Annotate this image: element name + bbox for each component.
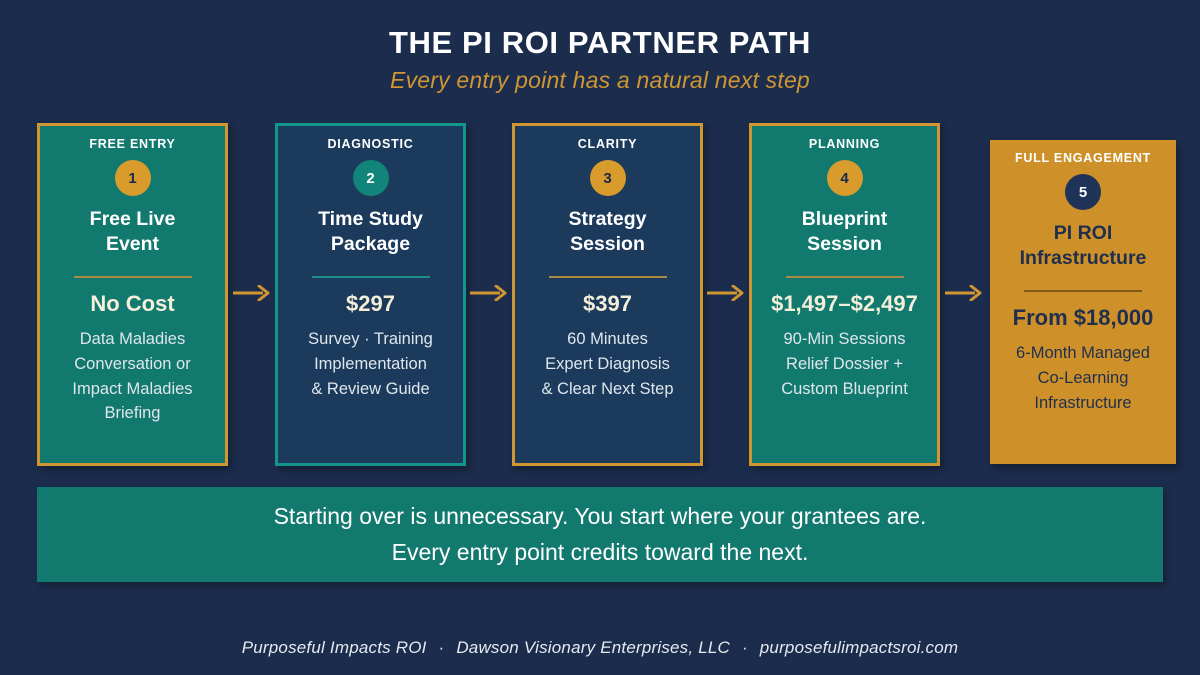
card-label: DIAGNOSTIC <box>328 137 414 151</box>
card-detail-line: 6-Month Managed <box>1016 341 1150 366</box>
card-title-line: Infrastructure <box>1020 246 1147 271</box>
card-title-line: Blueprint <box>802 207 888 232</box>
card-detail-line: Relief Dossier + <box>781 352 908 377</box>
card-detail-line: & Clear Next Step <box>541 377 673 402</box>
card-label: FULL ENGAGEMENT <box>1015 151 1151 165</box>
arrow-3-to-4-icon <box>707 285 747 306</box>
pathway-card-2[interactable]: DIAGNOSTIC2Time StudyPackage$297Survey ·… <box>275 123 466 466</box>
card-title-line: Package <box>318 232 423 257</box>
card-title: PI ROIInfrastructure <box>1020 221 1147 271</box>
card-title-line: Free Live <box>90 207 176 232</box>
pathway-card-5[interactable]: FULL ENGAGEMENT5PI ROIInfrastructureFrom… <box>990 140 1176 464</box>
step-number-badge: 4 <box>827 160 863 196</box>
card-title-line: Strategy <box>568 207 646 232</box>
card-divider <box>549 276 667 278</box>
card-title: Free LiveEvent <box>90 207 176 257</box>
card-title: StrategySession <box>568 207 646 257</box>
card-detail-line: Briefing <box>72 401 192 426</box>
card-divider <box>1024 290 1142 292</box>
card-detail-line: & Review Guide <box>308 377 433 402</box>
page-title: THE PI ROI PARTNER PATH <box>0 26 1200 60</box>
footer: Purposeful Impacts ROI · Dawson Visionar… <box>0 638 1200 658</box>
footer-separator-1: · <box>432 638 452 657</box>
card-price: $397 <box>583 291 632 316</box>
arrow-1-to-2-icon <box>233 285 273 306</box>
card-price: From $18,000 <box>1013 305 1154 330</box>
pathway-card-1[interactable]: FREE ENTRY1Free LiveEventNo CostData Mal… <box>37 123 228 466</box>
card-divider <box>74 276 192 278</box>
footer-company: Dawson Visionary Enterprises, LLC <box>456 638 730 657</box>
card-detail-line: Implementation <box>308 352 433 377</box>
card-detail-line: Expert Diagnosis <box>541 352 673 377</box>
arrow-4-to-5-icon <box>945 285 985 306</box>
step-number-badge: 3 <box>590 160 626 196</box>
card-price: $1,497–$2,497 <box>771 291 918 316</box>
card-title-line: Event <box>90 232 176 257</box>
card-detail: Survey · TrainingImplementation& Review … <box>308 327 433 401</box>
card-divider <box>786 276 904 278</box>
arrow-2-to-3-icon <box>470 285 510 306</box>
card-detail: 6-Month ManagedCo-LearningInfrastructure <box>1016 341 1150 415</box>
pathway-card-3[interactable]: CLARITY3StrategySession$39760 MinutesExp… <box>512 123 703 466</box>
banner-line-2: Every entry point credits toward the nex… <box>392 535 809 571</box>
card-detail: 90-Min SessionsRelief Dossier +Custom Bl… <box>781 327 908 401</box>
banner-line-1: Starting over is unnecessary. You start … <box>274 499 927 535</box>
card-detail: 60 MinutesExpert Diagnosis& Clear Next S… <box>541 327 673 401</box>
card-detail-line: Survey · Training <box>308 327 433 352</box>
card-label: CLARITY <box>578 137 637 151</box>
card-label: PLANNING <box>809 137 880 151</box>
card-title-line: Session <box>568 232 646 257</box>
card-label: FREE ENTRY <box>89 137 175 151</box>
card-detail-line: 60 Minutes <box>541 327 673 352</box>
card-title-line: Time Study <box>318 207 423 232</box>
footer-brand: Purposeful Impacts ROI <box>242 638 427 657</box>
step-number-badge: 2 <box>353 160 389 196</box>
card-title-line: PI ROI <box>1020 221 1147 246</box>
card-title: Time StudyPackage <box>318 207 423 257</box>
card-price: No Cost <box>90 291 174 316</box>
card-detail-line: Data Maladies <box>72 327 192 352</box>
step-number-badge: 1 <box>115 160 151 196</box>
card-detail: Data MaladiesConversation orImpact Malad… <box>72 327 192 426</box>
step-number-badge: 5 <box>1065 174 1101 210</box>
card-divider <box>312 276 430 278</box>
header: THE PI ROI PARTNER PATH Every entry poin… <box>0 0 1200 94</box>
summary-banner: Starting over is unnecessary. You start … <box>37 487 1163 582</box>
card-title: BlueprintSession <box>802 207 888 257</box>
card-detail-line: Custom Blueprint <box>781 377 908 402</box>
page-subtitle: Every entry point has a natural next ste… <box>0 67 1200 94</box>
card-detail-line: Infrastructure <box>1016 391 1150 416</box>
card-detail-line: Conversation or <box>72 352 192 377</box>
footer-separator-2: · <box>735 638 755 657</box>
card-detail-line: 90-Min Sessions <box>781 327 908 352</box>
pathway-card-4[interactable]: PLANNING4BlueprintSession$1,497–$2,49790… <box>749 123 940 466</box>
card-title-line: Session <box>802 232 888 257</box>
card-detail-line: Co-Learning <box>1016 366 1150 391</box>
card-detail-line: Impact Maladies <box>72 377 192 402</box>
card-price: $297 <box>346 291 395 316</box>
footer-website[interactable]: purposefulimpactsroi.com <box>760 638 959 657</box>
